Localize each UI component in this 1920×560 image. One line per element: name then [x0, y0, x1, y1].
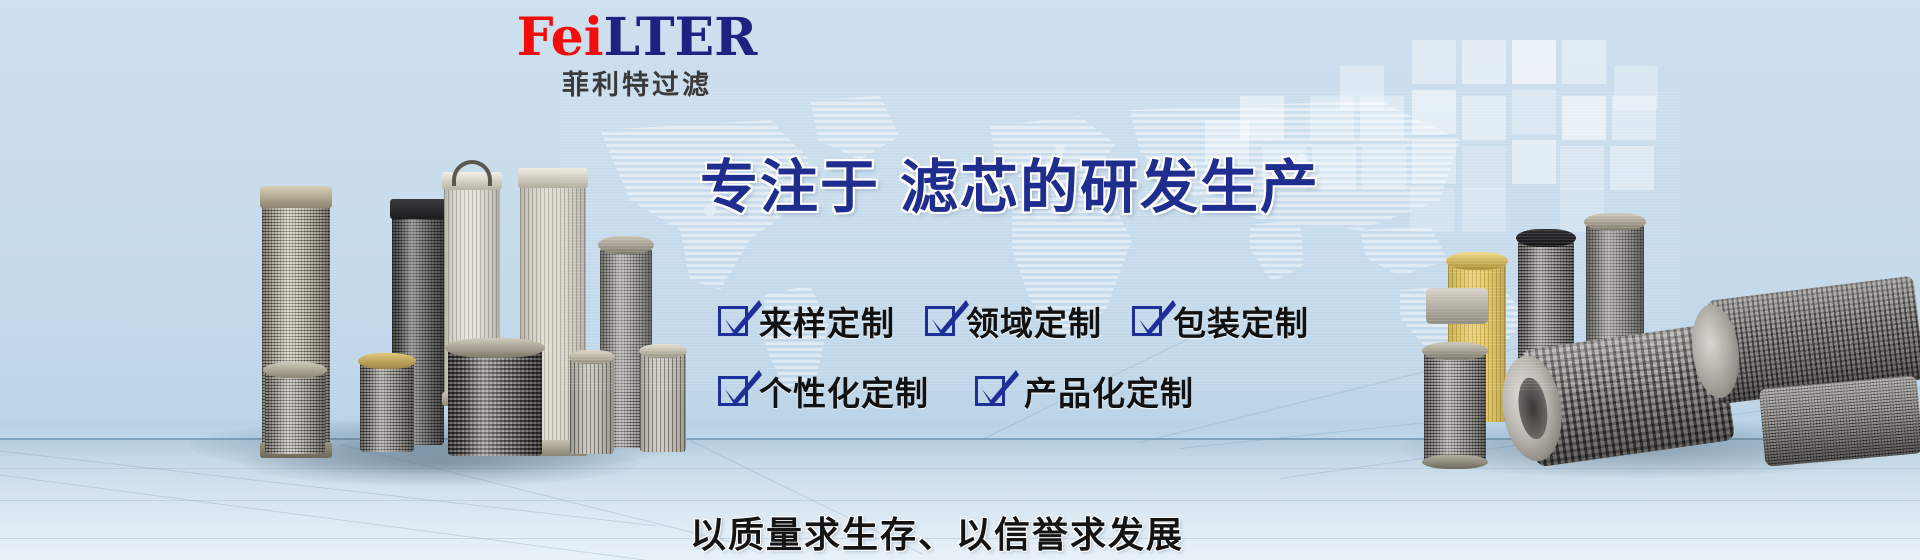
checkbox-checked-icon	[718, 306, 748, 336]
check-tick-icon	[1133, 299, 1177, 339]
check-tick-icon	[719, 369, 763, 409]
feature-item-laiyang[interactable]: 来样定制	[718, 297, 895, 345]
slogan: 以质量求生存、以信誉求发展	[690, 506, 1184, 558]
feature-label: 来样定制	[759, 297, 895, 345]
checkbox-checked-icon	[975, 376, 1005, 406]
feature-label: 个性化定制	[759, 367, 929, 415]
feature-label: 产品化定制	[1024, 367, 1194, 415]
headline-part1: 专注于	[700, 153, 880, 221]
company-logo[interactable]: FeiLTER 菲利特过滤	[487, 10, 787, 102]
headline-part2: 滤芯的研发生产	[900, 153, 1320, 221]
feature-item-baozhuang[interactable]: 包装定制	[1132, 297, 1309, 345]
floor-horizon-line	[0, 438, 1920, 440]
feature-row-1: 来样定制 领域定制 包装定制	[718, 297, 1339, 345]
check-tick-icon	[719, 299, 763, 339]
feature-list: 来样定制 领域定制 包装定制	[718, 297, 1339, 437]
feature-label: 包装定制	[1173, 297, 1309, 345]
feature-row-2: 个性化定制 产品化定制	[718, 367, 1339, 415]
feature-item-gexinghua[interactable]: 个性化定制	[718, 367, 929, 415]
headline: 专注于滤芯的研发生产	[700, 140, 1320, 224]
promo-banner: FeiLTER 菲利特过滤 专注于滤芯的研发生产 来样定制	[0, 0, 1920, 560]
checkbox-checked-icon	[925, 306, 955, 336]
logo-chinese-name: 菲利特过滤	[487, 70, 787, 102]
logo-wordmark-part1: Fei	[517, 7, 604, 68]
logo-wordmark-part2: LTER	[604, 7, 758, 68]
check-tick-icon	[926, 299, 970, 339]
feature-label: 领域定制	[966, 297, 1102, 345]
checkbox-checked-icon	[718, 376, 748, 406]
logo-wordmark: FeiLTER	[487, 10, 787, 66]
feature-item-chanpinhua[interactable]: 产品化定制	[975, 367, 1194, 415]
checkbox-checked-icon	[1132, 306, 1162, 336]
feature-item-lingyu[interactable]: 领域定制	[925, 297, 1102, 345]
check-tick-icon	[976, 369, 1020, 409]
